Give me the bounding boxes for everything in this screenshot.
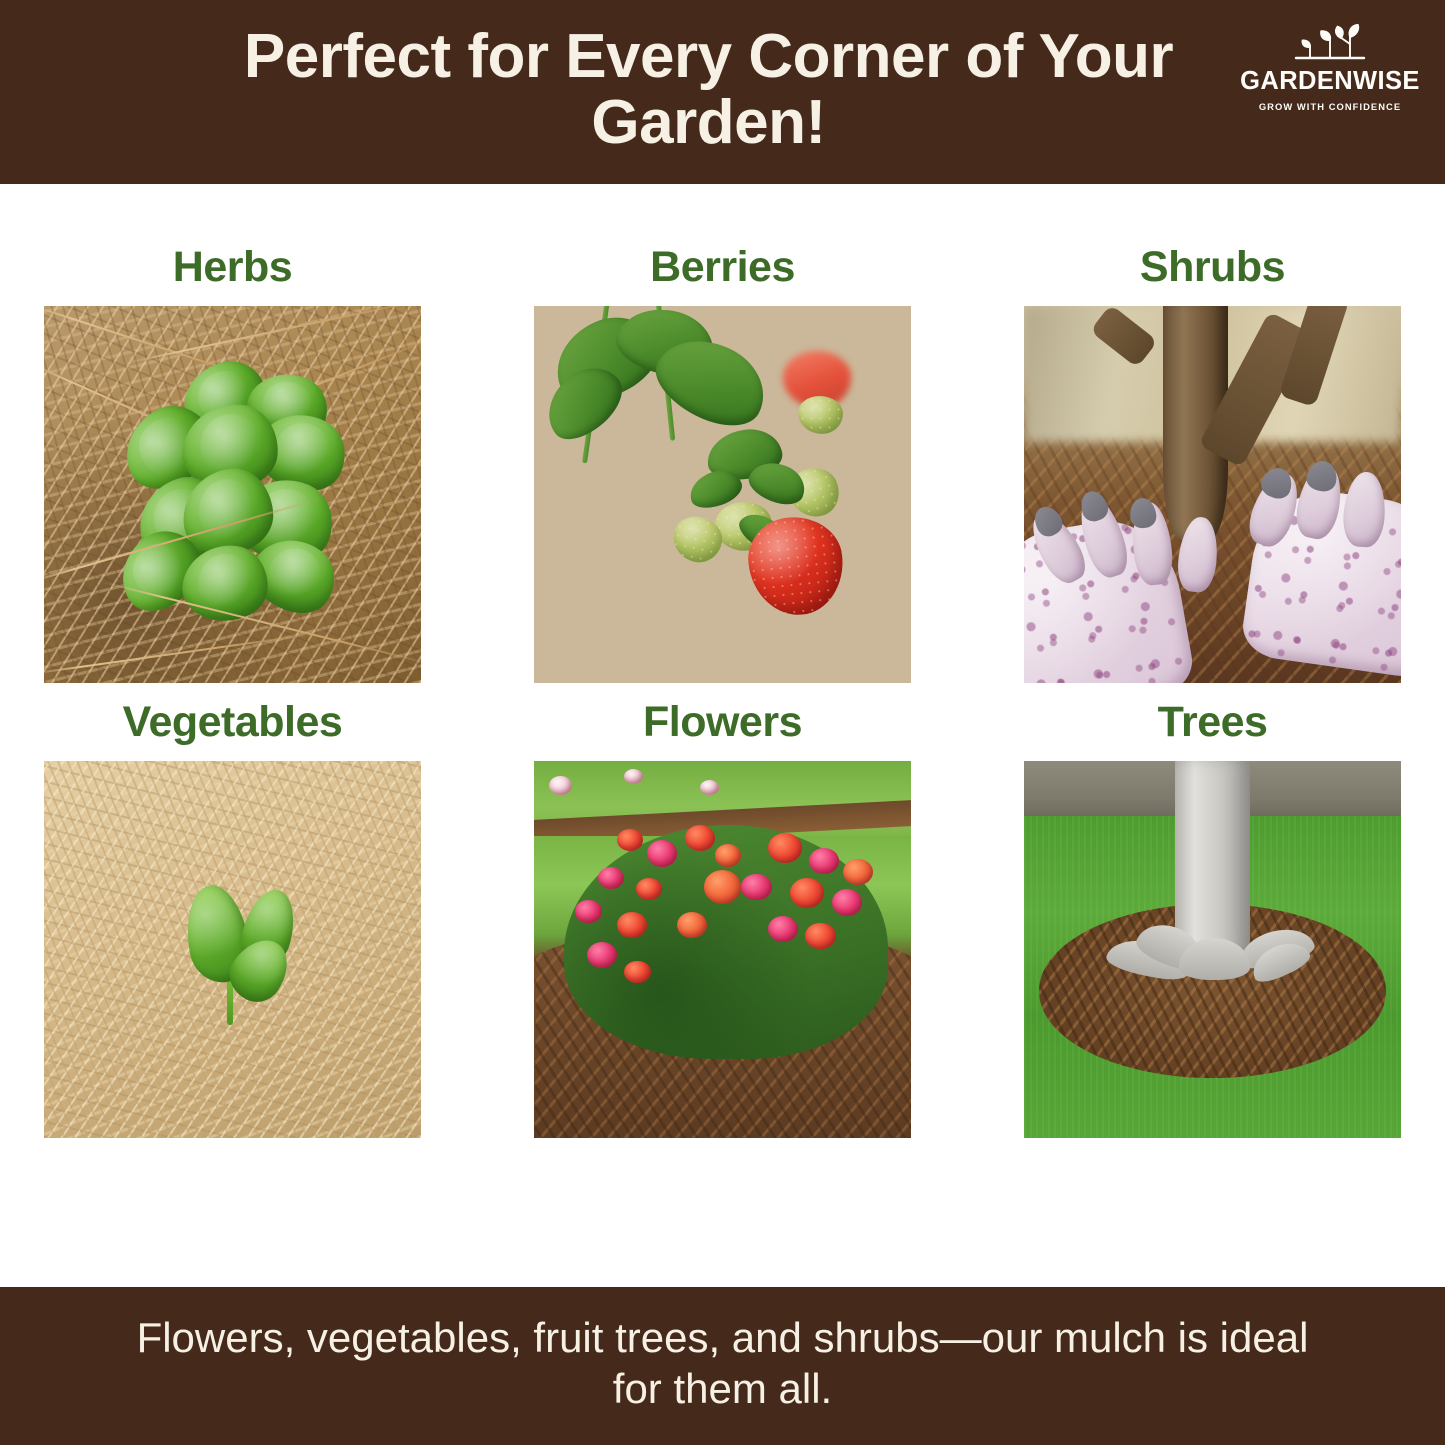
photo-berries [534, 306, 911, 683]
page-title: Perfect for Every Corner of Your Garden! [165, 24, 1280, 161]
photo-vegetables [44, 761, 421, 1138]
footer-banner: Flowers, vegetables, fruit trees, and sh… [0, 1287, 1445, 1445]
category-label-trees: Trees [1024, 683, 1401, 761]
category-label-vegetables: Vegetables [44, 683, 421, 761]
category-cell-vegetables: Vegetables [44, 683, 421, 1138]
category-grid: Herbs [46, 184, 1399, 1138]
category-label-flowers: Flowers [534, 683, 911, 761]
logo-wordmark: GARDENWISE [1240, 69, 1420, 95]
category-label-berries: Berries [534, 228, 911, 306]
category-cell-berries: Berries [534, 228, 911, 683]
photo-trees [1024, 761, 1401, 1138]
photo-shrubs [1024, 306, 1401, 683]
header-banner: Perfect for Every Corner of Your Garden! [0, 0, 1445, 184]
category-cell-herbs: Herbs [44, 228, 421, 683]
photo-herbs [44, 306, 421, 683]
brand-logo: GARDENWISE GROW WITH CONFIDENCE [1239, 22, 1421, 111]
category-cell-trees: Trees [1024, 683, 1401, 1138]
herb-plant [108, 369, 358, 621]
category-label-shrubs: Shrubs [1024, 228, 1401, 306]
category-cell-flowers: Flowers [534, 683, 911, 1138]
tree-trunk [1175, 761, 1250, 961]
photo-flowers [534, 761, 911, 1138]
seedling-sprouts-icon [1286, 22, 1374, 66]
category-cell-shrubs: Shrubs [1024, 228, 1401, 683]
footer-tagline: Flowers, vegetables, fruit trees, and sh… [108, 1312, 1338, 1420]
logo-tagline: GROW WITH CONFIDENCE [1259, 102, 1401, 111]
category-grid-area: Herbs [0, 184, 1445, 1287]
product-infographic: Perfect for Every Corner of Your Garden! [0, 0, 1445, 1445]
category-label-herbs: Herbs [44, 228, 421, 306]
